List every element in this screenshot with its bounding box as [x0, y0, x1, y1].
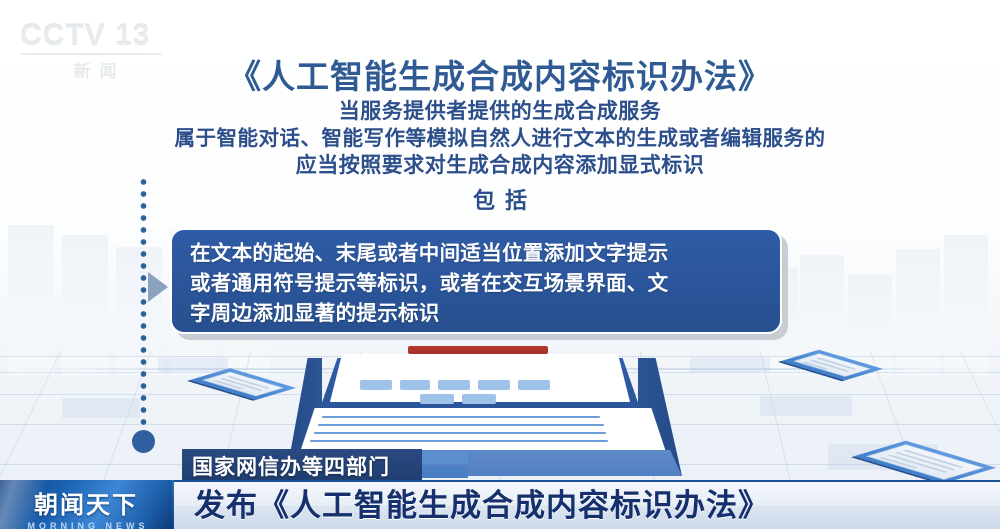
document-inner-strip	[338, 361, 622, 375]
right-arrow-icon	[148, 272, 168, 302]
dept-tag-accent-bottom	[422, 466, 468, 478]
program-logo-en: MORNING NEWS	[0, 521, 172, 529]
document-block-7	[462, 394, 496, 404]
broadcast-screen: CCTV 13 新闻 《人工智能生成合成内容标识办法》 当服务提供者提供的生成合…	[0, 0, 1000, 529]
department-tag: 国家网信办等四部门	[182, 449, 422, 482]
headline-subline-2: 属于智能对话、智能写作等模拟自然人进行文本的生成或者编辑服务的	[0, 125, 1000, 152]
callout-line-1: 在文本的起始、末尾或者中间适当位置添加文字提示	[190, 239, 764, 269]
page-title: 《人工智能生成合成内容标识办法》	[0, 56, 1000, 98]
document-block-6	[420, 394, 454, 404]
lower-third-banner: 发布《人工智能生成合成内容标识办法》 朝闻天下 MORNING NEWS	[0, 480, 1000, 529]
lower-third-headline: 发布《人工智能生成合成内容标识办法》	[194, 483, 770, 529]
callout-line-2: 或者通用符号提示等标识，或者在交互场景界面、文	[190, 269, 764, 299]
document-tablet-illustration	[0, 340, 1000, 490]
program-logo: 朝闻天下 MORNING NEWS	[0, 480, 172, 529]
callout-box: 在文本的起始、末尾或者中间适当位置添加文字提示 或者通用符号提示等标识，或者在交…	[170, 228, 782, 334]
cctv-logo-text: CCTV 13	[20, 20, 170, 52]
dept-tag-accent-top	[422, 452, 468, 464]
document-block-4	[478, 380, 510, 390]
headline-text-block: 《人工智能生成合成内容标识办法》 当服务提供者提供的生成合成服务 属于智能对话、…	[0, 56, 1000, 215]
cctv-logo-rule	[20, 53, 162, 55]
lower-third-main-bar: 发布《人工智能生成合成内容标识办法》	[172, 480, 1000, 529]
callout-line-3: 字周边添加显著的提示标识	[190, 299, 764, 329]
department-tag-label: 国家网信办等四部门	[192, 451, 390, 481]
includes-label: 包括	[0, 183, 1000, 215]
document-block-5	[518, 380, 550, 390]
document-block-1	[360, 380, 392, 390]
headline-subline-3: 应当按照要求对生成合成内容添加显式标识	[0, 152, 1000, 179]
program-logo-cn: 朝闻天下	[0, 485, 172, 520]
document-page	[300, 408, 666, 452]
document-block-3	[438, 380, 470, 390]
headline-subline-1: 当服务提供者提供的生成合成服务	[0, 98, 1000, 125]
document-block-2	[400, 380, 430, 390]
document-red-accent-bar	[408, 346, 548, 354]
